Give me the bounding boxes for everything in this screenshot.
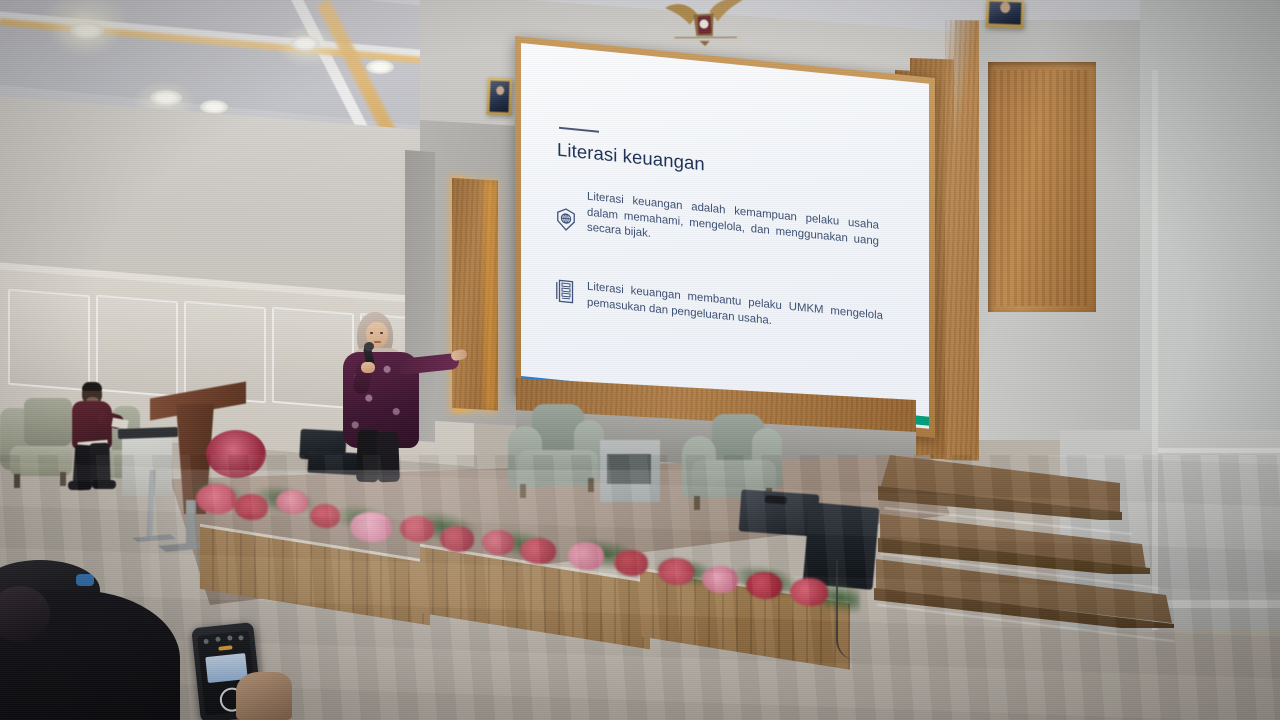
wood-recess-panel — [993, 70, 1089, 306]
wood-pillar-secondary — [945, 20, 979, 461]
slide-title: Literasi keuangan — [557, 139, 705, 176]
framed-portrait-left — [486, 78, 512, 116]
accent-light-glow-right — [486, 180, 500, 413]
slide-title-rule — [559, 127, 599, 133]
downlight-2-icon — [150, 90, 182, 106]
blue-accent — [76, 574, 94, 586]
downlight-4-icon — [290, 36, 320, 51]
shield-globe-icon — [555, 206, 577, 232]
seminar-hall-photo: Literasi keuangan Literasi keuangan adal… — [0, 0, 1280, 720]
projection-screen[interactable]: Literasi keuangan Literasi keuangan adal… — [515, 36, 935, 396]
pointing-hand — [450, 348, 468, 361]
wainscot-panel — [96, 295, 178, 398]
downlight-5-icon — [366, 60, 394, 74]
slide-bullet-2-text: Literasi keuangan membantu pelaku UMKM m… — [587, 280, 883, 341]
slide: Literasi keuangan Literasi keuangan adal… — [521, 43, 929, 429]
screen-surface: Literasi keuangan Literasi keuangan adal… — [521, 43, 929, 429]
far-right-wall — [1140, 0, 1280, 460]
framed-portrait-right — [986, 0, 1025, 29]
wainscot-panel — [8, 289, 90, 392]
slide-bullet-1-text: Literasi keuangan adalah kemampuan pelak… — [587, 190, 879, 266]
mic-hand — [361, 362, 375, 373]
baseboard-trim — [1158, 448, 1280, 453]
ledger-document-icon — [555, 278, 575, 304]
hand-holding-phone — [236, 672, 292, 720]
